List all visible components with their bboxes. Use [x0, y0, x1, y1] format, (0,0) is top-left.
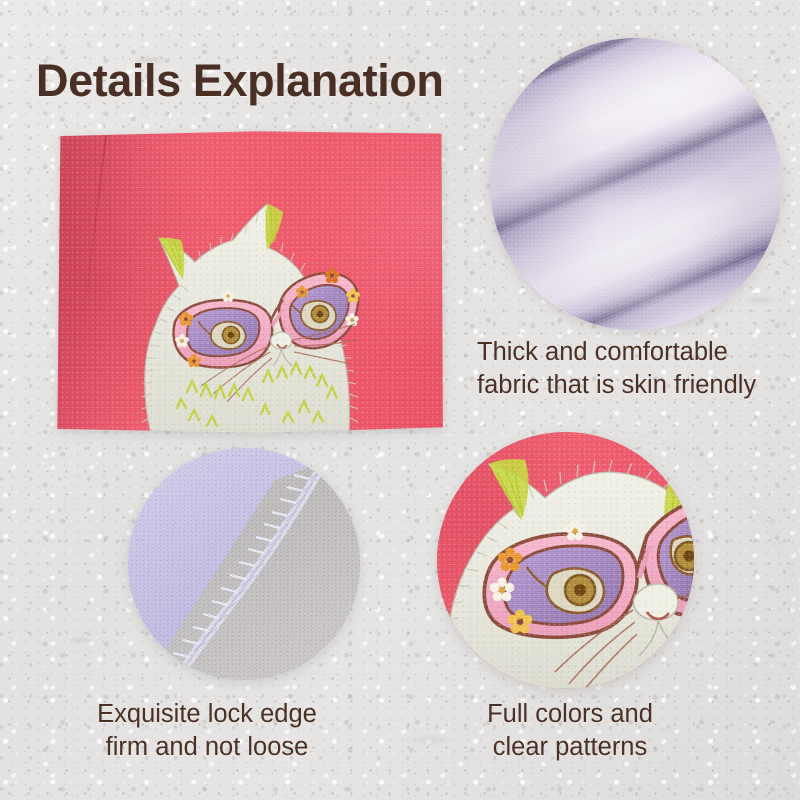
feature-photo-pattern	[437, 432, 694, 689]
caption-lockedge: Exquisite lock edge firm and not loose	[52, 698, 362, 764]
lockedge-texture	[128, 448, 360, 680]
product-tapestry-image	[55, 130, 443, 434]
cat-artwork-closeup	[437, 432, 694, 689]
tapestry-fabric	[55, 130, 443, 434]
feature-photo-fabric	[490, 38, 782, 330]
caption-fabric: Thick and comfortable fabric that is ski…	[477, 336, 792, 402]
caption-pattern: Full colors and clear patterns	[442, 698, 698, 764]
cat-artwork	[55, 130, 443, 434]
fabric-weave-texture	[490, 38, 782, 330]
page-title: Details Explanation	[36, 55, 444, 107]
feature-photo-lockedge	[128, 448, 360, 680]
